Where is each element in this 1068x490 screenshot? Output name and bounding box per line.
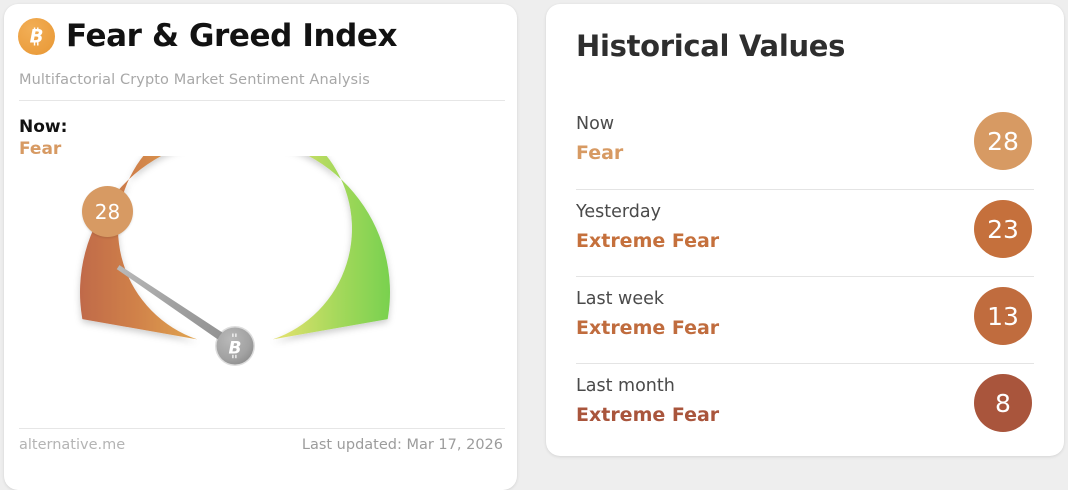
page-root: B Fear & Greed Index Multifactorial Cryp… <box>0 0 1068 468</box>
history-period: Yesterday <box>576 202 661 223</box>
history-classification: Fear <box>576 142 623 165</box>
history-value-badge: 8 <box>974 374 1032 432</box>
history-classification: Extreme Fear <box>576 230 719 253</box>
last-updated-label: Last updated: Mar 17, 2026 <box>302 437 503 453</box>
svg-text:B: B <box>229 339 242 359</box>
page-subtitle: Multifactorial Crypto Market Sentiment A… <box>19 72 370 88</box>
history-value-badge: 13 <box>974 287 1032 345</box>
now-label: Now: <box>19 117 67 138</box>
history-period: Now <box>576 114 614 135</box>
list-item[interactable]: Last month Extreme Fear 8 <box>576 363 1034 450</box>
history-period: Last month <box>576 376 675 397</box>
list-item[interactable]: Now Fear 28 <box>576 102 1034 189</box>
history-value-badge: 23 <box>974 200 1032 258</box>
history-value-badge: 28 <box>974 112 1032 170</box>
source-label: alternative.me <box>19 437 125 453</box>
history-period: Last week <box>576 289 664 310</box>
bitcoin-icon: B <box>18 18 55 55</box>
history-classification: Extreme Fear <box>576 317 719 340</box>
svg-text:B: B <box>30 26 44 47</box>
historical-values-card: Historical Values Now Fear 28 Yesterday … <box>546 4 1064 456</box>
list-item[interactable]: Last week Extreme Fear 13 <box>576 276 1034 363</box>
gauge-card-header: B Fear & Greed Index <box>18 18 397 55</box>
historical-values-title: Historical Values <box>576 32 845 61</box>
footer-divider <box>19 428 505 429</box>
page-title: Fear & Greed Index <box>66 21 397 52</box>
header-divider <box>19 100 505 101</box>
history-classification: Extreme Fear <box>576 404 719 427</box>
gauge-value-badge: 28 <box>82 186 133 237</box>
historical-values-list: Now Fear 28 Yesterday Extreme Fear 23 La… <box>576 102 1034 450</box>
gauge-hub-bitcoin-icon: B <box>215 326 255 366</box>
fear-greed-gauge-card: B Fear & Greed Index Multifactorial Cryp… <box>4 4 517 490</box>
list-item[interactable]: Yesterday Extreme Fear 23 <box>576 189 1034 276</box>
